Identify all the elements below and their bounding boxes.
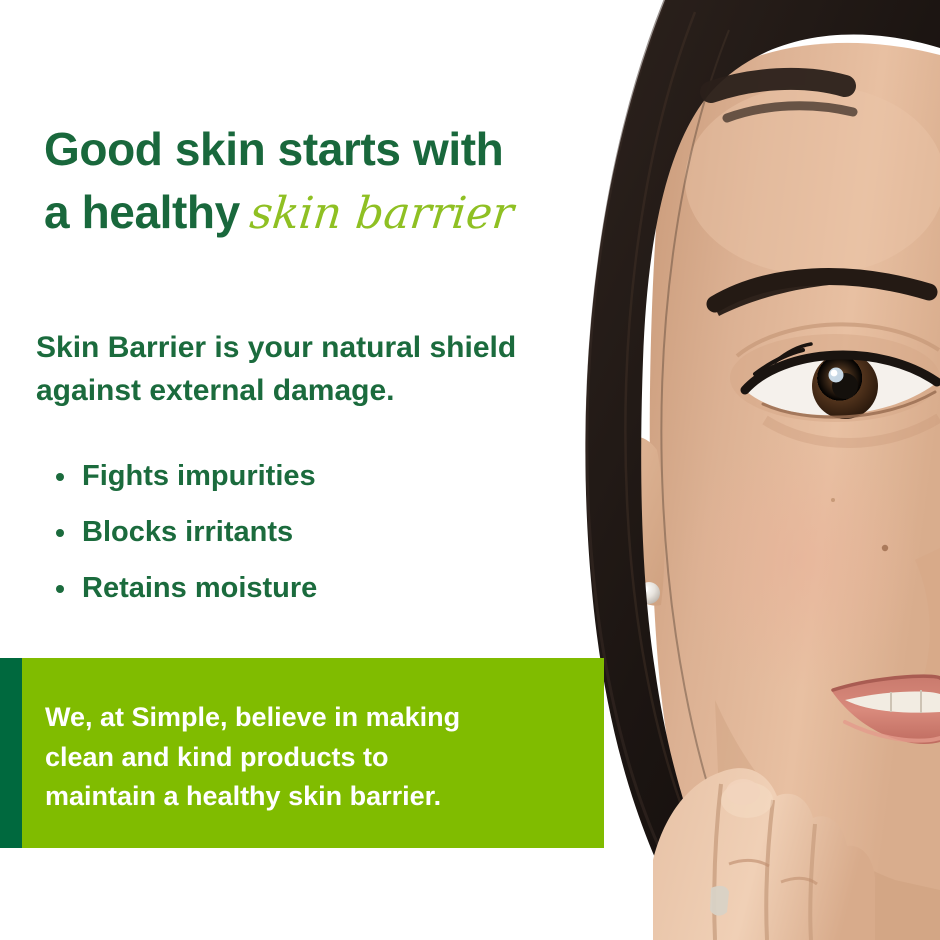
benefits-list: Fights impurities Blocks irritants Retai… [56,462,526,630]
lede-line-1: Skin Barrier is your natural shield [36,327,566,370]
bullet-dot-icon [56,585,64,593]
banner-line-3: maintain a healthy skin barrier. [45,777,585,817]
headline-script-accent: skin barrier [247,184,517,245]
list-item: Blocks irritants [56,518,526,547]
brand-statement-banner: We, at Simple, believe in making clean a… [0,658,604,848]
list-item: Fights impurities [56,462,526,491]
bullet-label: Retains moisture [82,572,317,604]
lede-line-2: against external damage. [36,370,566,413]
headline-line-1: Good skin starts with [44,118,584,181]
bullet-dot-icon [56,473,64,481]
bullet-label: Fights impurities [82,460,316,492]
ad-creative-canvas: Good skin starts with a healthyskin barr… [0,0,940,940]
headline-line-2: a healthyskin barrier [44,181,584,245]
lede-paragraph: Skin Barrier is your natural shield agai… [36,327,566,412]
banner-line-2: clean and kind products to [45,738,585,778]
bullet-dot-icon [56,529,64,537]
banner-accent-strip [0,658,22,848]
list-item: Retains moisture [56,574,526,603]
banner-text: We, at Simple, believe in making clean a… [45,698,585,817]
page-title: Good skin starts with a healthyskin barr… [44,118,584,245]
headline-line-2-text: a healthy [44,186,240,238]
banner-line-1: We, at Simple, believe in making [45,698,585,738]
bullet-label: Blocks irritants [82,516,293,548]
